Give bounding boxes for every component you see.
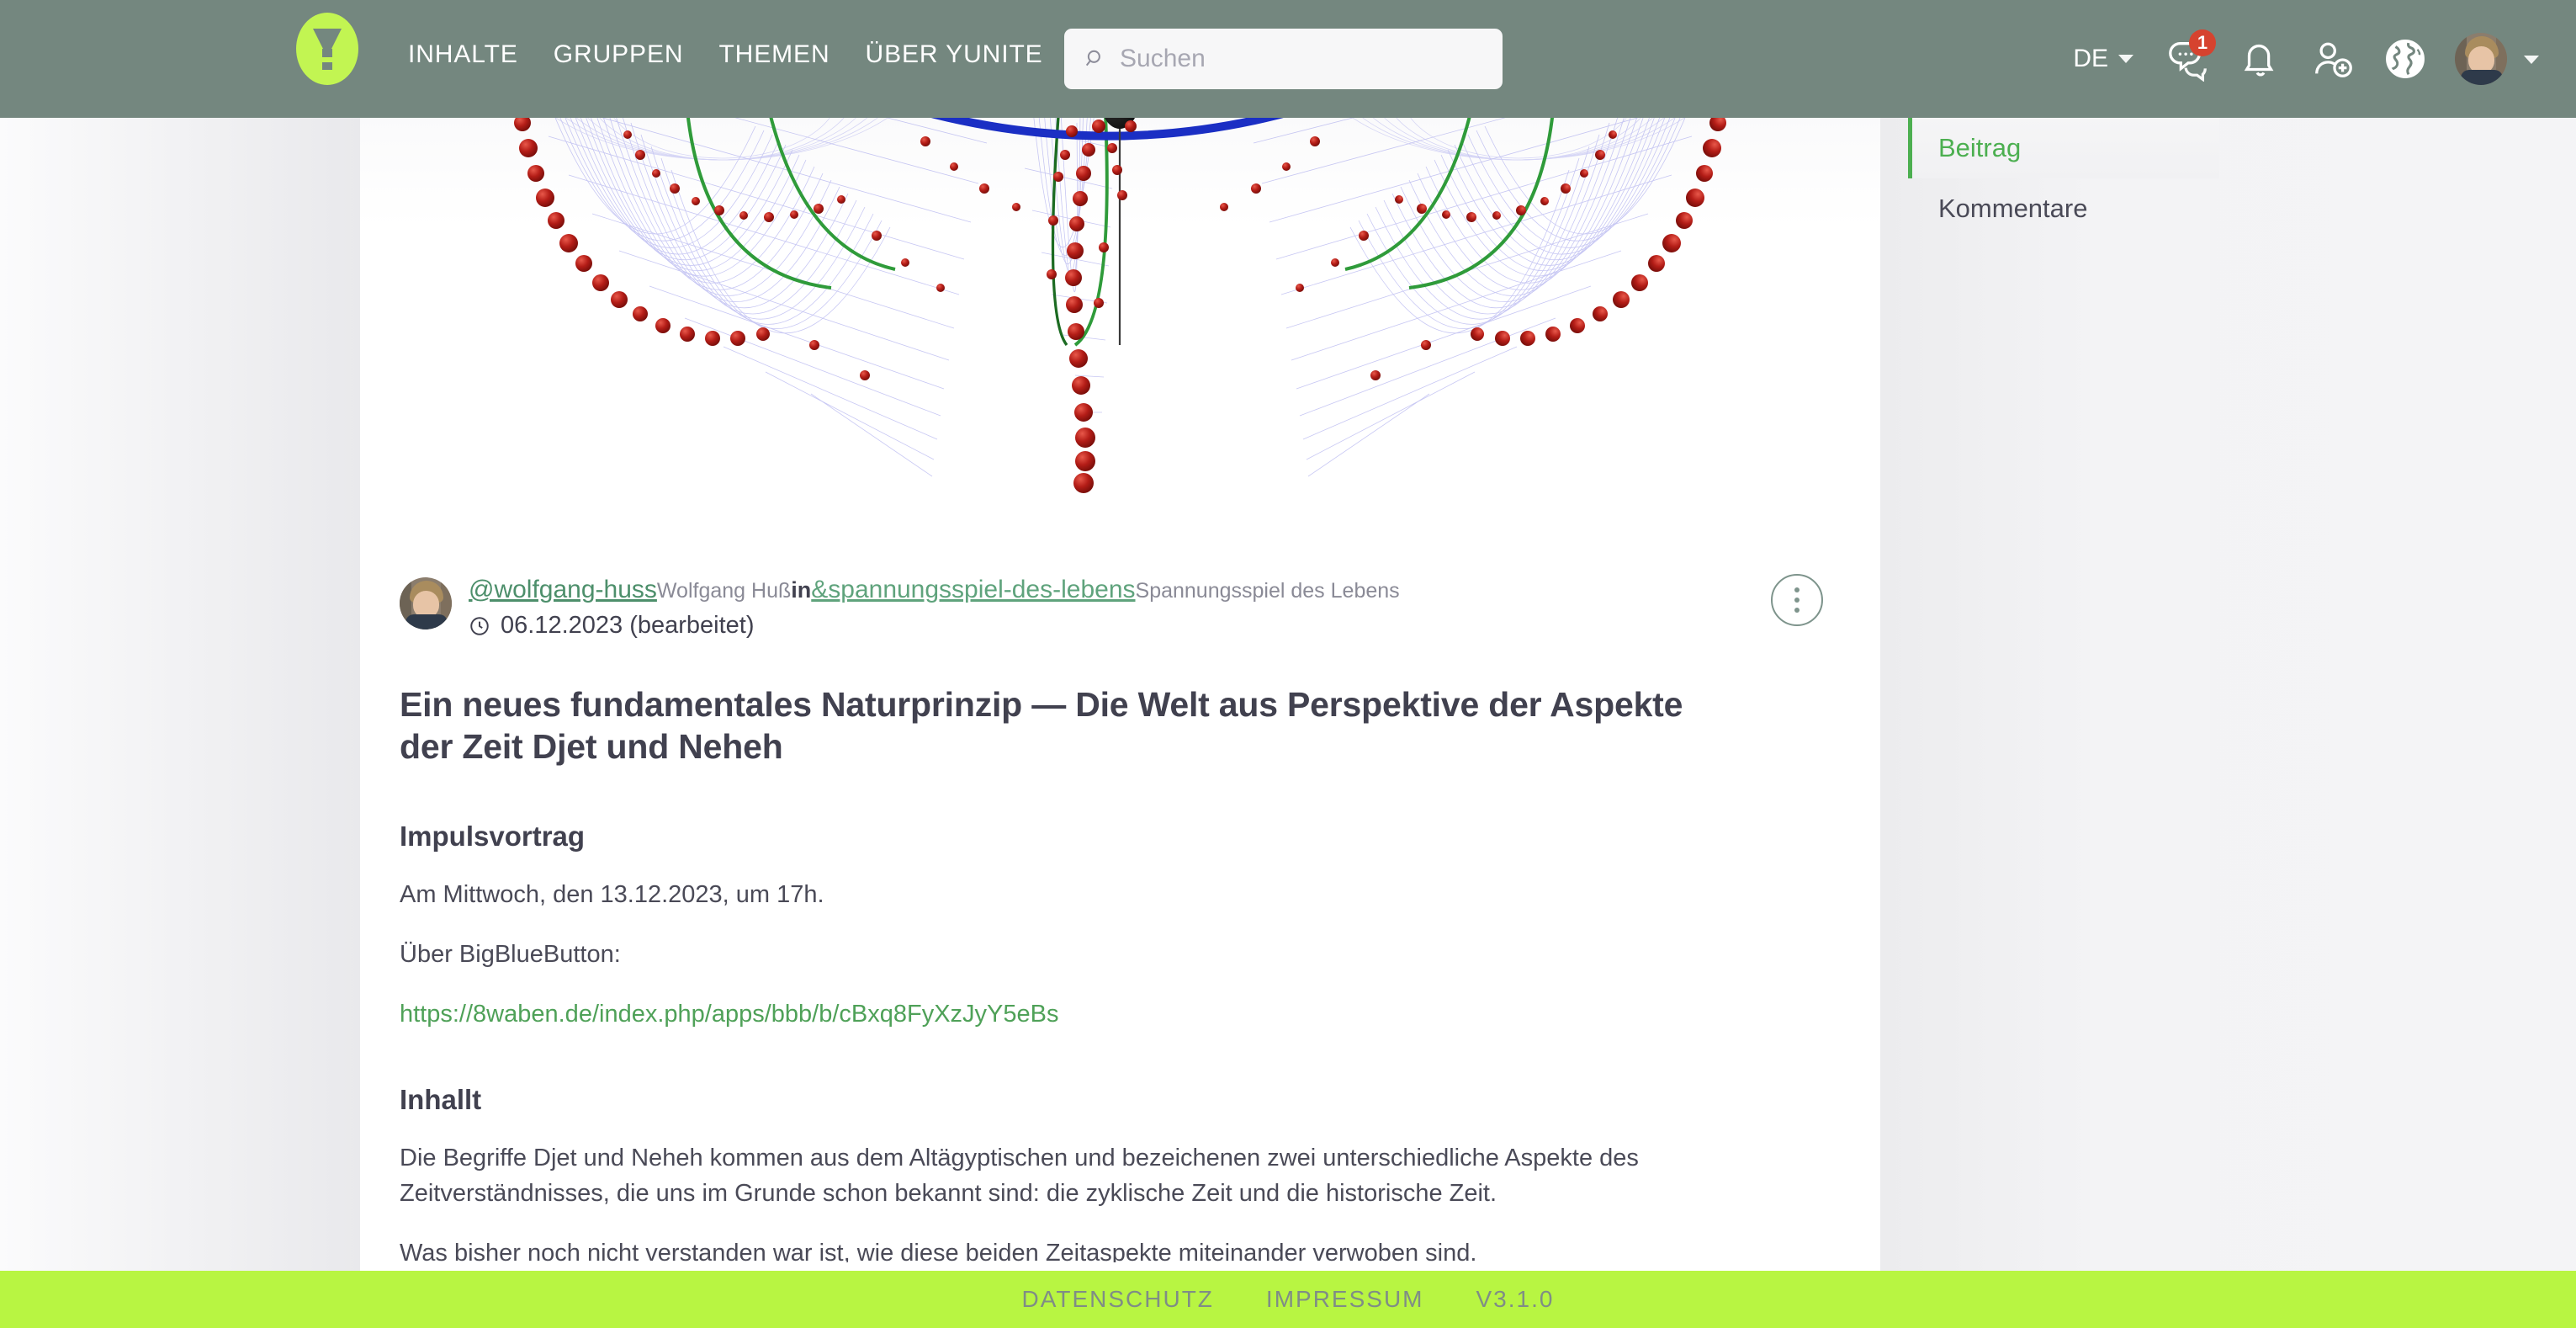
- author-name: Wolfgang Huß: [657, 579, 791, 603]
- bell-icon: [2238, 36, 2283, 82]
- clock-icon: [469, 615, 490, 637]
- language-selector[interactable]: DE: [2073, 45, 2133, 73]
- search-box[interactable]: Suchen: [1064, 29, 1503, 89]
- kebab-dot: [1794, 608, 1799, 613]
- page-title: Ein neues fundamentales Naturprinzip — D…: [360, 683, 1880, 768]
- logo-exclamation-icon: [313, 29, 342, 69]
- post-attribution: @wolfgang-huss Wolfgang Huß in &spannung…: [469, 576, 1400, 604]
- group-handle-link[interactable]: &spannungsspiel-des-lebens: [811, 576, 1135, 603]
- user-avatar[interactable]: [2455, 33, 2507, 85]
- globe-button[interactable]: [2383, 36, 2428, 82]
- in-word: in: [791, 577, 811, 603]
- sidebar-item-kommentare[interactable]: Kommentare: [1908, 178, 2219, 239]
- page-gutter-right: [1880, 118, 2576, 1328]
- footer-link-datenschutz[interactable]: DATENSCHUTZ: [1022, 1286, 1214, 1313]
- post-options-button[interactable]: [1771, 574, 1823, 626]
- paragraph-bbb: Über BigBlueButton:: [360, 938, 1880, 972]
- section-heading-inhalt: Inhallt: [360, 1084, 1880, 1116]
- search-input[interactable]: Suchen: [1120, 45, 1206, 73]
- user-plus-icon: [2310, 36, 2356, 82]
- notifications-button[interactable]: [2238, 36, 2283, 82]
- messages-badge: 1: [2189, 29, 2216, 56]
- page-gutter-left: [0, 118, 360, 1328]
- chevron-down-icon: [2118, 55, 2133, 63]
- search-icon: [1084, 48, 1106, 70]
- messages-button[interactable]: 1: [2165, 36, 2211, 82]
- group-name: Spannungsspiel des Lebens: [1136, 579, 1400, 603]
- header-actions: DE 1: [2073, 0, 2539, 118]
- nav-item-inhalte[interactable]: INHALTE: [408, 40, 518, 69]
- post-body: @wolfgang-huss Wolfgang Huß in &spannung…: [360, 505, 1880, 1262]
- nav-item-gruppen[interactable]: GRUPPEN: [554, 40, 684, 69]
- sidebar-item-label: Kommentare: [1938, 194, 2087, 224]
- section-heading-impulsvortrag: Impulsvortrag: [360, 821, 1880, 853]
- sidebar-item-beitrag[interactable]: Beitrag: [1908, 118, 2219, 178]
- top-navigation-bar: INHALTE GRUPPEN THEMEN ÜBER YUNITE Suche…: [0, 0, 2576, 118]
- footer-link-impressum[interactable]: IMPRESSUM: [1266, 1286, 1424, 1313]
- nav-item-themen[interactable]: THEMEN: [718, 40, 830, 69]
- author-avatar[interactable]: [400, 577, 452, 629]
- nav-item-ueber-yunite[interactable]: ÜBER YUNITE: [866, 40, 1043, 69]
- post-card: @wolfgang-huss Wolfgang Huß in &spannung…: [360, 0, 1880, 1262]
- paragraph-djet-neheh: Die Begriffe Djet und Neheh kommen aus d…: [360, 1141, 1880, 1210]
- post-date: 06.12.2023 (bearbeitet): [501, 612, 755, 640]
- main-nav-links: INHALTE GRUPPEN THEMEN ÜBER YUNITE: [408, 40, 1043, 69]
- post-sidebar-nav: Beitrag Kommentare: [1908, 118, 2219, 239]
- post-meta: @wolfgang-huss Wolfgang Huß in &spannung…: [360, 505, 1880, 640]
- kebab-dot: [1794, 598, 1799, 603]
- language-label: DE: [2073, 45, 2108, 73]
- kebab-dot: [1794, 587, 1799, 592]
- sidebar-item-label: Beitrag: [1938, 133, 2021, 163]
- page-footer: DATENSCHUTZ IMPRESSUM V3.1.0: [0, 1271, 2576, 1328]
- paragraph-zeitaspekte: Was bisher noch nicht verstanden war ist…: [360, 1236, 1880, 1262]
- globe-icon: [2383, 36, 2428, 82]
- add-contact-button[interactable]: [2310, 36, 2356, 82]
- paragraph-bbb-link: https://8waben.de/index.php/apps/bbb/b/c…: [360, 997, 1880, 1032]
- post-date-row: 06.12.2023 (bearbeitet): [469, 612, 1400, 640]
- paragraph-time: Am Mittwoch, den 13.12.2023, um 17h.: [360, 878, 1880, 912]
- author-handle-link[interactable]: @wolfgang-huss: [469, 576, 657, 603]
- bbb-link[interactable]: https://8waben.de/index.php/apps/bbb/b/c…: [400, 1001, 1059, 1028]
- user-menu-chevron-down-icon[interactable]: [2524, 56, 2539, 64]
- footer-version: V3.1.0: [1476, 1286, 1555, 1313]
- yunite-logo[interactable]: [296, 13, 358, 85]
- app-page: @wolfgang-huss Wolfgang Huß in &spannung…: [0, 0, 2576, 1328]
